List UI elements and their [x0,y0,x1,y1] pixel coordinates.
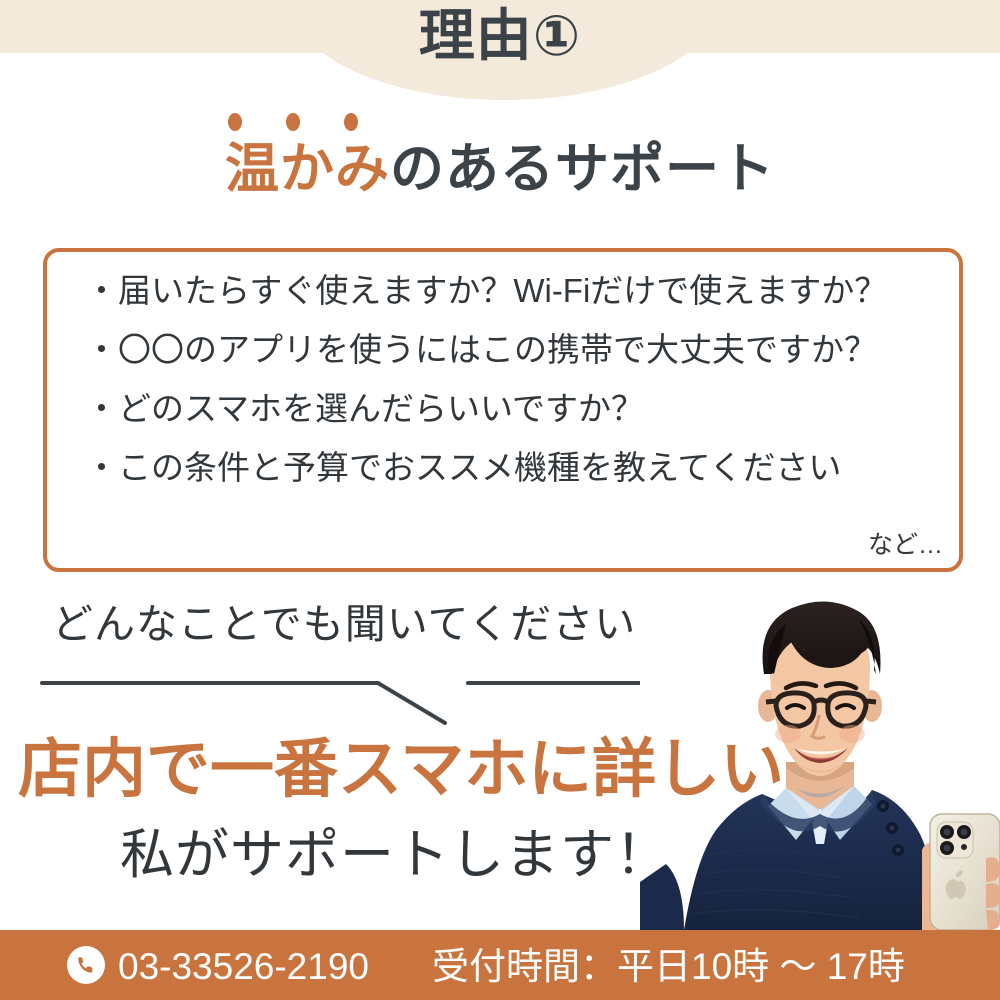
list-item: ・この条件と予算でおススメ機種を教えてください [85,451,939,484]
emphasis-dots [228,113,368,135]
footer-phone-number[interactable]: 03-33526-2190 [118,948,369,985]
questions-box: ・届いたらすぐ使えますか？Wi-Fiだけで使えますか？ ・〇〇のアプリを使うには… [43,248,963,572]
ask-anything-text: どんなことでも聞いてください！ [52,604,678,645]
contact-footer-bar: 03-33526-2190 受付時間：平日10時 〜 17時 [0,930,1000,1000]
etcetera-label: など… [868,533,943,558]
smartphone-illustration [922,814,1000,930]
headline-dark: 私がサポートします！ [120,828,670,882]
list-item: ・届いたらすぐ使えますか？Wi-Fiだけで使えますか？ [85,274,939,307]
reason-badge-title: 理由① [0,8,1000,64]
questions-list: ・届いたらすぐ使えますか？Wi-Fiだけで使えますか？ ・〇〇のアプリを使うには… [85,274,939,510]
speech-tail-underline-icon [40,665,660,727]
list-item: ・どのスマホを選んだらいいですか？ [85,392,939,425]
subtitle-accent: 温かみ [225,139,390,199]
headline-orange: 店内で一番スマホに詳しい [18,737,784,801]
phone-glyph [75,954,97,976]
emphasis-dot-icon [344,113,358,131]
emphasis-dot-icon [286,113,300,131]
emphasis-dot-icon [228,113,242,131]
footer-business-hours: 受付時間：平日10時 〜 17時 [432,948,905,985]
poster-canvas: 理由① 温かみのあるサポート ・届いたらすぐ使えますか？Wi-Fiだけで使えます… [0,0,1000,1000]
subtitle-rest: のあるサポート [390,139,775,199]
list-item: ・〇〇のアプリを使うにはこの携帯で大丈夫ですか？ [85,333,939,366]
phone-icon[interactable] [67,946,105,984]
section-subtitle: 温かみのあるサポート [0,140,1000,199]
